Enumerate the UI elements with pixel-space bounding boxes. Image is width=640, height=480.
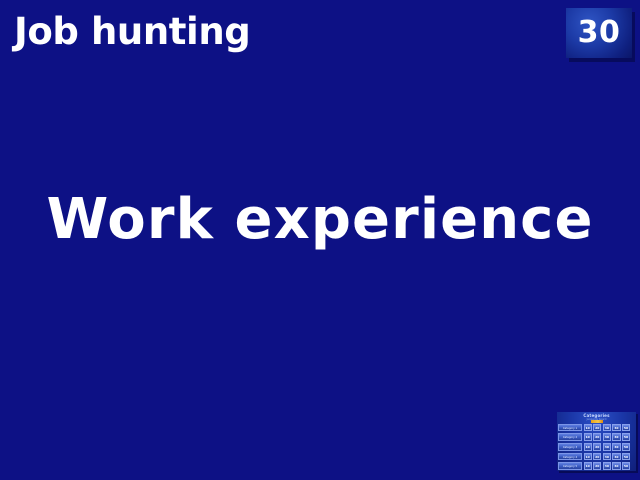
thumbnail-value-tile[interactable]: 40 (612, 424, 620, 432)
thumbnail-value-tile[interactable]: 40 (612, 453, 620, 461)
thumbnail-value-tile[interactable]: 20 (593, 453, 601, 461)
thumbnail-accent-bar (591, 420, 603, 423)
thumbnail-value-tile[interactable]: 40 (612, 462, 620, 470)
thumbnail-value-tile[interactable]: 20 (593, 433, 601, 441)
thumbnail-value-tile[interactable]: 50 (622, 443, 630, 451)
thumbnail-value-tile[interactable]: 50 (622, 424, 630, 432)
thumbnail-row: Category 11020304050 (558, 423, 635, 432)
thumbnail-value-tile[interactable]: 50 (622, 453, 630, 461)
thumbnail-row: Category 41020304050 (558, 452, 635, 461)
thumbnail-value-tile[interactable]: 30 (603, 462, 611, 470)
thumbnail-value-tile[interactable]: 40 (612, 443, 620, 451)
quiz-slide: Job hunting 30 Work experience Categorie… (0, 0, 640, 480)
thumbnail-category-label[interactable]: Category 5 (558, 462, 582, 470)
point-value-badge[interactable]: 30 (566, 8, 632, 58)
thumbnail-value-tile[interactable]: 20 (593, 462, 601, 470)
thumbnail-value-tile[interactable]: 10 (584, 453, 592, 461)
thumbnail-value-tile[interactable]: 40 (612, 433, 620, 441)
thumbnail-value-tile[interactable]: 30 (603, 453, 611, 461)
thumbnail-category-label[interactable]: Category 3 (558, 443, 582, 451)
point-value-text: 30 (578, 18, 621, 48)
page-title: Job hunting (14, 13, 250, 52)
thumbnail-value-tile[interactable]: 30 (603, 443, 611, 451)
thumbnail-value-tile[interactable]: 10 (584, 462, 592, 470)
thumbnail-value-tile[interactable]: 50 (622, 433, 630, 441)
thumbnail-grid: Category 11020304050Category 21020304050… (558, 423, 635, 471)
thumbnail-header: Categories Jeopardy board (558, 413, 635, 423)
thumbnail-value-tile[interactable]: 10 (584, 433, 592, 441)
thumbnail-value-tile[interactable]: 50 (622, 462, 630, 470)
thumbnail-value-tile[interactable]: 20 (593, 443, 601, 451)
thumbnail-category-label[interactable]: Category 1 (558, 424, 582, 432)
slide-body: Work experience (0, 188, 640, 252)
thumbnail-value-tile[interactable]: 20 (593, 424, 601, 432)
thumbnail-row: Category 31020304050 (558, 442, 635, 451)
thumbnail-row: Category 21020304050 (558, 433, 635, 442)
thumbnail-value-tile[interactable]: 30 (603, 424, 611, 432)
board-thumbnail-button[interactable]: Categories Jeopardy board Category 11020… (557, 412, 636, 471)
slide-body-text: Work experience (46, 188, 593, 252)
thumbnail-category-label[interactable]: Category 2 (558, 433, 582, 441)
thumbnail-row: Category 51020304050 (558, 462, 635, 471)
thumbnail-value-tile[interactable]: 30 (603, 433, 611, 441)
thumbnail-category-label[interactable]: Category 4 (558, 453, 582, 461)
thumbnail-value-tile[interactable]: 10 (584, 424, 592, 432)
thumbnail-value-tile[interactable]: 10 (584, 443, 592, 451)
